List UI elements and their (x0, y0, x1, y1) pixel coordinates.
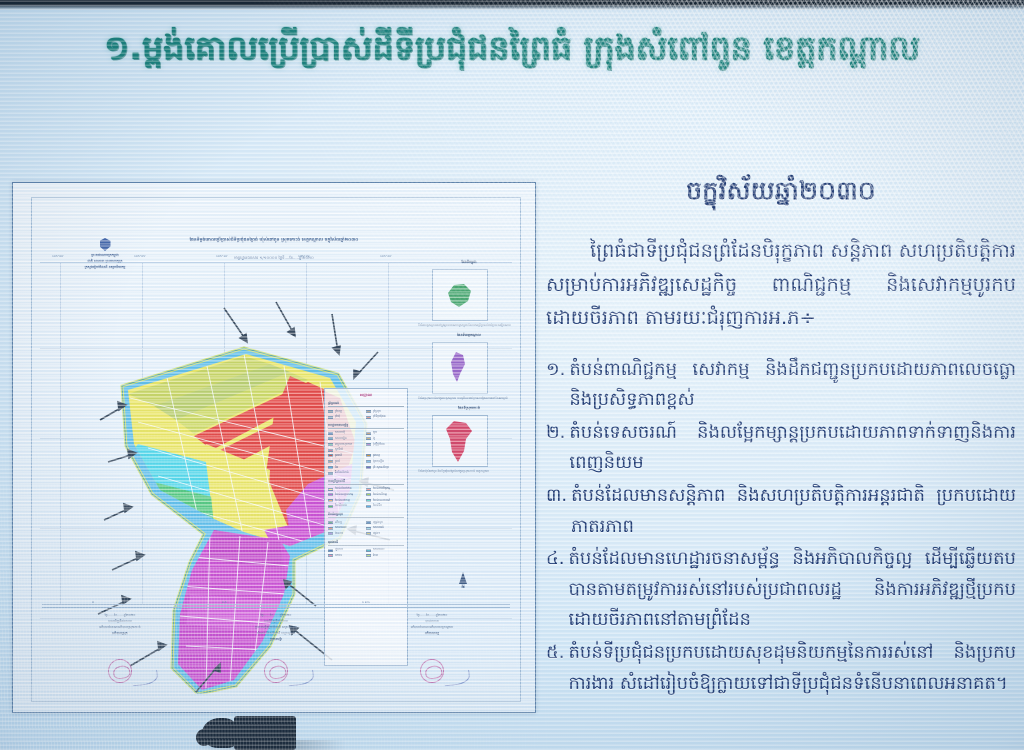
signature-block-2[interactable]: ថ្ងៃ.......ខែ.......ឆ្នាំ២០២០ បានឯកភាព អ… (354, 608, 510, 687)
legend-section-rows-3: អភិរក្សបម្រុងទុកសាធារណៈសហគមន៍ផែនការផ្សេង… (328, 520, 404, 537)
inset-map-koh-thom[interactable] (418, 413, 520, 469)
legend-section-heading-3: តំបន់រក្សាទុក (328, 512, 404, 518)
legend-swatch-icon (366, 416, 371, 419)
vision-text-panel: ចក្ខុវិស័យឆ្នាំ២០៣០ ព្រៃធំជាទីប្រជុំជនព្… (546, 176, 1016, 701)
legend-swatch-icon (328, 493, 333, 496)
koh-thom-highlight-shape (442, 419, 476, 465)
axis-tick-4: 105°20' (380, 254, 392, 258)
legend-row[interactable]: ឯកជន (328, 553, 366, 559)
vision-point-text-1: តំបន់ពាណិជ្ជកម្ម សេវាកម្ម និងដឹកជញ្ជូនប្… (569, 355, 1016, 416)
legend-label: ព្រំឃុំ (335, 414, 341, 420)
camera-lens-icon (196, 729, 212, 746)
axis-tick-1: 105°05' (134, 254, 146, 258)
legend-row[interactable]: ព្រំឃុំ (328, 414, 366, 420)
legend-swatch-icon (328, 505, 333, 508)
sig-bold-1: ប្រធានមន្ទីរ (204, 636, 348, 642)
legend-swatch-icon (328, 416, 333, 419)
scale-tick-2: 1 km (362, 600, 370, 604)
vision-point-text-5: តំបន់ទីប្រជុំជនប្រកបដោយសុខដុមនិយកម្មនៃកា… (568, 638, 1016, 699)
legend-swatch-icon (328, 466, 333, 469)
scale-tick-0: 0 (92, 600, 94, 604)
legend-section-heading-0: ព្រំប្រទល់ (328, 401, 404, 407)
legend-row[interactable]: ព្រំទីប្រជុំជន (366, 414, 404, 420)
legend-swatch-icon (328, 527, 333, 530)
legend-swatch-icon (328, 443, 333, 446)
north-arrow-icon (459, 572, 467, 584)
vision-point-number-5: ៥. (546, 638, 564, 699)
vision-point-2: ២.តំបន់ទេសចរណ៍ និងលម្អែកម្សាន្តប្រកបដោយភ… (546, 418, 1016, 479)
legend-row[interactable]: ទំនេរ (366, 553, 404, 559)
legend-section-rows-1: សាលាឃុំផ្សារសាលារៀនវត្តមណ្ឌលសុខភាពប៉ុស្ត… (328, 430, 404, 476)
vision-point-text-3: តំបន់ដែលមានសន្តិភាព និងសហប្រតិបត្តិការអន… (571, 481, 1016, 542)
legend-swatch-icon (366, 437, 371, 440)
inset-block-0[interactable]: ផែនទីកម្ពុជា ទីតាំងខេត្តកណ្ដាលនៅក្នុងព្រ… (418, 260, 520, 328)
inset-note-2: ទីតាំងឃុំសំពៅពូន និងទីប្រជុំជនព្រៃធំនៅក្… (418, 469, 520, 474)
legend-swatch-icon (328, 554, 333, 557)
legend-row[interactable]: ទីតាំងសំខាន់ (328, 470, 366, 476)
vision-point-text-2: តំបន់ទេសចរណ៍ និងលម្អែកម្សាន្តប្រកបដោយភាព… (569, 418, 1016, 479)
legend-swatch-icon (366, 554, 371, 557)
legend-swatch-icon (366, 499, 371, 502)
legend-swatch-icon (328, 521, 333, 524)
legend-row[interactable]: តំបន់បៃតង (328, 503, 366, 509)
inset-heading-2: ផែនទីស្រុកកោះធំ (418, 406, 520, 411)
axis-tick-3: 105°15' (298, 254, 310, 258)
legend-label: ព្រំទីប្រជុំជន (373, 414, 386, 420)
inset-block-1[interactable]: ផែនទីខេត្តកណ្ដាល ទីតាំងស្រុកកោះធំនៅក្នុង… (418, 333, 520, 401)
vision-point-4: ៤.តំបន់ដែលមានហេដ្ឋារចនាសម្ព័ន្ធ និងអភិបា… (546, 544, 1016, 636)
official-stamp-icon-2 (418, 657, 445, 684)
legend-swatch-icon (328, 488, 333, 491)
axis-tick-2: 105°10' (216, 254, 228, 258)
kandal-highlight-shape (448, 350, 470, 384)
legend-swatch-icon (366, 460, 371, 463)
legend-body: ព្រំប្រទល់ព្រំខេត្តព្រំស្រុកព្រំឃុំព្រំទ… (328, 401, 404, 559)
vision-point-3: ៣.តំបន់ដែលមានសន្តិភាព និងសហប្រតិបត្តិការ… (546, 481, 1016, 542)
legend-swatch-icon (328, 449, 333, 452)
signature-block-0[interactable]: ថ្ងៃ.......ខែ.......ឆ្នាំ២០២០ បានឃើញនិងឯ… (42, 608, 198, 687)
official-stamp-icon-1 (262, 657, 289, 684)
legend-section-heading-2: ការប្រើប្រាស់ដី (328, 479, 404, 485)
scale-tick-1: 0.5 (222, 600, 227, 604)
legend-swatch-icon (328, 549, 333, 552)
scale-bar (42, 604, 510, 605)
legend-section-rows-4: រដ្ឋបាលសាធារណៈឯកជនទំនេរ (328, 547, 404, 558)
legend-swatch-icon (366, 527, 371, 530)
legend-label: ឯកជន (335, 553, 343, 559)
logo-line-3: ក្រសួងរៀបចំដែនដី នគរូបនីយកម្ម (60, 265, 150, 271)
cambodia-highlight-shape (444, 281, 474, 309)
legend-swatch-icon (328, 472, 333, 475)
vision-point-number-2: ២. (546, 418, 565, 479)
legend-swatch-icon (366, 454, 371, 457)
legend-swatch-icon (328, 432, 333, 435)
vision-point-number-3: ៣. (546, 481, 567, 542)
legend-label: ទីតាំងសំខាន់ (335, 470, 349, 476)
handwritten-signature-2 (444, 670, 471, 687)
legend-section-rows-0: ព្រំខេត្តព្រំស្រុកព្រំឃុំព្រំទីប្រជុំជន (328, 409, 404, 420)
legend-swatch-icon (328, 437, 333, 440)
inset-note-0: ទីតាំងខេត្តកណ្ដាលនៅក្នុងព្រះរាជាណាចក្រកម… (418, 323, 520, 328)
legend-swatch-icon (328, 410, 333, 413)
legend-label: ផ្សេងៗ (373, 531, 381, 537)
legend-swatch-icon (366, 488, 371, 491)
legend-swatch-icon (366, 493, 371, 496)
top-dark-bar (0, 0, 1024, 5)
legend-swatch-icon (366, 410, 371, 413)
inset-heading-0: ផែនទីកម្ពុជា (418, 260, 520, 265)
legend-swatch-icon (366, 532, 371, 535)
legend-section-rows-2: តំបន់លំនៅឋានតំបន់ពាណិជ្ជកម្មតំបន់ឧស្សាហក… (328, 486, 404, 509)
map-subtitle: មាត្រដ្ឋានឯកសារ ១/១០០០០ ថ្ងៃទី....ខែ....… (124, 255, 424, 261)
signature-block-1[interactable]: ថ្ងៃ.......ខែ.......ឆ្នាំ២០២០ បានពិនិត្យ… (198, 608, 354, 687)
sig-bold-2: អភិបាលខេត្ត (360, 630, 504, 636)
handwritten-signature-0 (132, 670, 159, 687)
legend-section-heading-4: មុខងារដី (328, 540, 404, 546)
inset-heading-1: ផែនទីខេត្តកណ្ដាល (418, 333, 520, 338)
inset-map-cambodia[interactable] (418, 267, 520, 323)
legend-label: ទំនេរ (373, 553, 379, 559)
legend-title: សញ្ញាណ (328, 392, 404, 398)
legend-row[interactable]: ផែនការ (328, 531, 366, 537)
projector-screen: ១.ម្ពង់គោលប្រើប្រាស់ដីទីប្រជុំជនព្រៃធំ ក… (0, 0, 1024, 750)
map-title: ផែនទីម្ពង់គោលប្រើប្រាស់ដីទីប្រជុំជនព្រៃធ… (124, 238, 424, 245)
inset-map-kandal[interactable] (418, 340, 520, 396)
legend-row[interactable]: តំបន់ទឹក (366, 503, 404, 509)
legend-swatch-icon (366, 505, 371, 508)
vision-points-list: ១.តំបន់ពាណិជ្ជកម្ម សេវាកម្ម និងដឹកជញ្ជូន… (546, 355, 1016, 700)
national-crest-icon (100, 238, 111, 251)
legend-label: ផែនការ (335, 531, 344, 537)
inset-block-2[interactable]: ផែនទីស្រុកកោះធំ ទីតាំងឃុំសំពៅពូន និងទីប្… (418, 406, 520, 474)
map-inner-frame: ព្រះរាជាណាចក្រកម្ពុជា ជាតិ សាសនា ព្រះមហា… (31, 197, 521, 702)
slide-title: ១.ម្ពង់គោលប្រើប្រាស់ដីទីប្រជុំជនព្រៃធំ ក… (0, 28, 1024, 76)
legend-label: តំបន់ទឹក (373, 503, 383, 509)
north-arrow: N (450, 572, 476, 589)
legend-label: គ្រឹះស្ថានសិក្សា (373, 465, 389, 471)
map-document[interactable]: ព្រះរាជាណាចក្រកម្ពុជា ជាតិ សាសនា ព្រះមហា… (12, 182, 536, 713)
legend-swatch-icon (328, 532, 333, 535)
camera-silhouette (196, 698, 346, 750)
vision-point-1: ១.តំបន់ពាណិជ្ជកម្ម សេវាកម្ម និងដឹកជញ្ជូន… (546, 355, 1016, 416)
vision-point-number-4: ៤. (546, 544, 564, 636)
north-label: N (450, 584, 476, 589)
legend-swatch-icon (328, 460, 333, 463)
inset-note-1: ទីតាំងស្រុកកោះធំនៅក្នុងខេត្តកណ្ដាល មានព្… (418, 396, 520, 401)
vision-point-number-1: ១. (546, 355, 565, 416)
legend-label: តំបន់បៃតង (335, 503, 347, 509)
legend-swatch-icon (366, 521, 371, 524)
legend-swatch-icon (366, 466, 371, 469)
handwritten-signature-1 (288, 670, 315, 687)
panel-heading: ចក្ខុវិស័យឆ្នាំ២០៣០ (546, 176, 1016, 212)
legend-swatch-icon (328, 499, 333, 502)
legend-swatch-icon (366, 432, 371, 435)
legend-row[interactable]: ផ្សេងៗ (366, 531, 404, 537)
inset-map-column: ផែនទីកម្ពុជា ទីតាំងខេត្តកណ្ដាលនៅក្នុងព្រ… (418, 260, 520, 605)
legend-swatch-icon (366, 549, 371, 552)
vision-point-text-4: តំបន់ដែលមានហេដ្ឋារចនាសម្ព័ន្ធ និងអភិបាលក… (568, 544, 1016, 636)
axis-tick-0: 105°00' (52, 254, 64, 258)
legend-section-heading-1: ហេដ្ឋារចនាសម្ព័ន្ធ (328, 423, 404, 429)
sig-bold-0: អភិបាលស្រុក (48, 630, 192, 636)
legend-swatch-icon (366, 443, 371, 446)
signature-blocks: ថ្ងៃ.......ខែ.......ឆ្នាំ២០២០ បានឃើញនិងឯ… (42, 607, 510, 687)
legend-row[interactable]: គ្រឹះស្ថានសិក្សា (366, 465, 404, 471)
panel-lead-paragraph: ព្រៃធំជាទីប្រជុំជនព្រំដែនបិរុក្ខភាព សន្ត… (546, 234, 1016, 335)
official-stamp-icon-0 (106, 657, 133, 684)
legend-swatch-icon (328, 454, 333, 457)
vision-point-5: ៥.តំបន់ទីប្រជុំជនប្រកបដោយសុខដុមនិយកម្មនៃ… (546, 638, 1016, 699)
